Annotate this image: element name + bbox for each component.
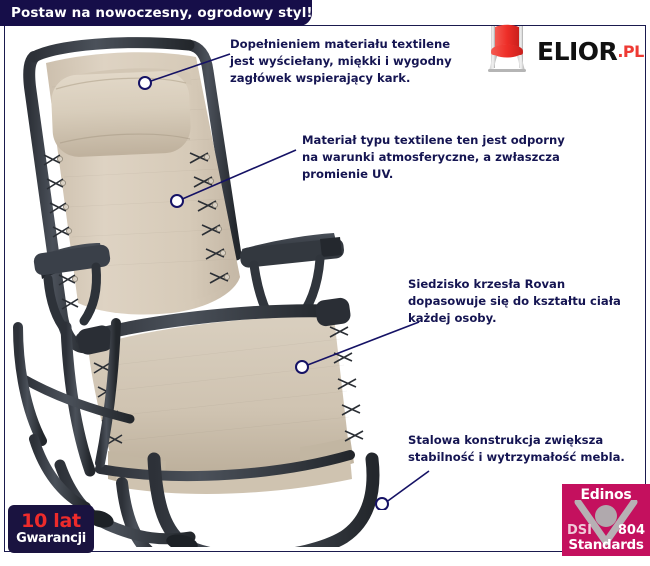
brand-tld: .PL <box>617 42 644 61</box>
edinos-number: 804 <box>618 523 645 538</box>
callout-fabric: Materiał typu textilene ten jest odporny… <box>302 132 602 182</box>
headline-banner: Postaw na nowoczesny, ogrodowy styl! <box>0 0 312 26</box>
edinos-dsi-label: DSI <box>567 523 592 538</box>
brand-logo: ELIOR .PL <box>484 22 644 80</box>
infographic-root: Postaw na nowoczesny, ogrodowy styl! <box>0 0 650 566</box>
edinos-standards-label: Standards <box>562 537 650 553</box>
brand-name: ELIOR <box>537 39 617 64</box>
callout-frame: Stalowa konstrukcja zwiększa stabilność … <box>408 432 642 466</box>
red-chair-icon <box>484 23 530 79</box>
headline-text: Postaw na nowoczesny, ogrodowy styl! <box>0 5 313 21</box>
callout-seat: Siedzisko krzesła Rovan dopasowuje się d… <box>408 276 646 326</box>
guarantee-label: Gwarancji <box>16 532 86 546</box>
callout-headrest: Dopełnieniem materiału textilene jest wy… <box>230 36 480 86</box>
guarantee-badge: 10 lat Gwarancji <box>8 505 94 553</box>
guarantee-years: 10 lat <box>21 512 81 531</box>
edinos-badge: Edinos DSI 804 Standards <box>562 484 650 556</box>
product-photo <box>4 27 424 547</box>
